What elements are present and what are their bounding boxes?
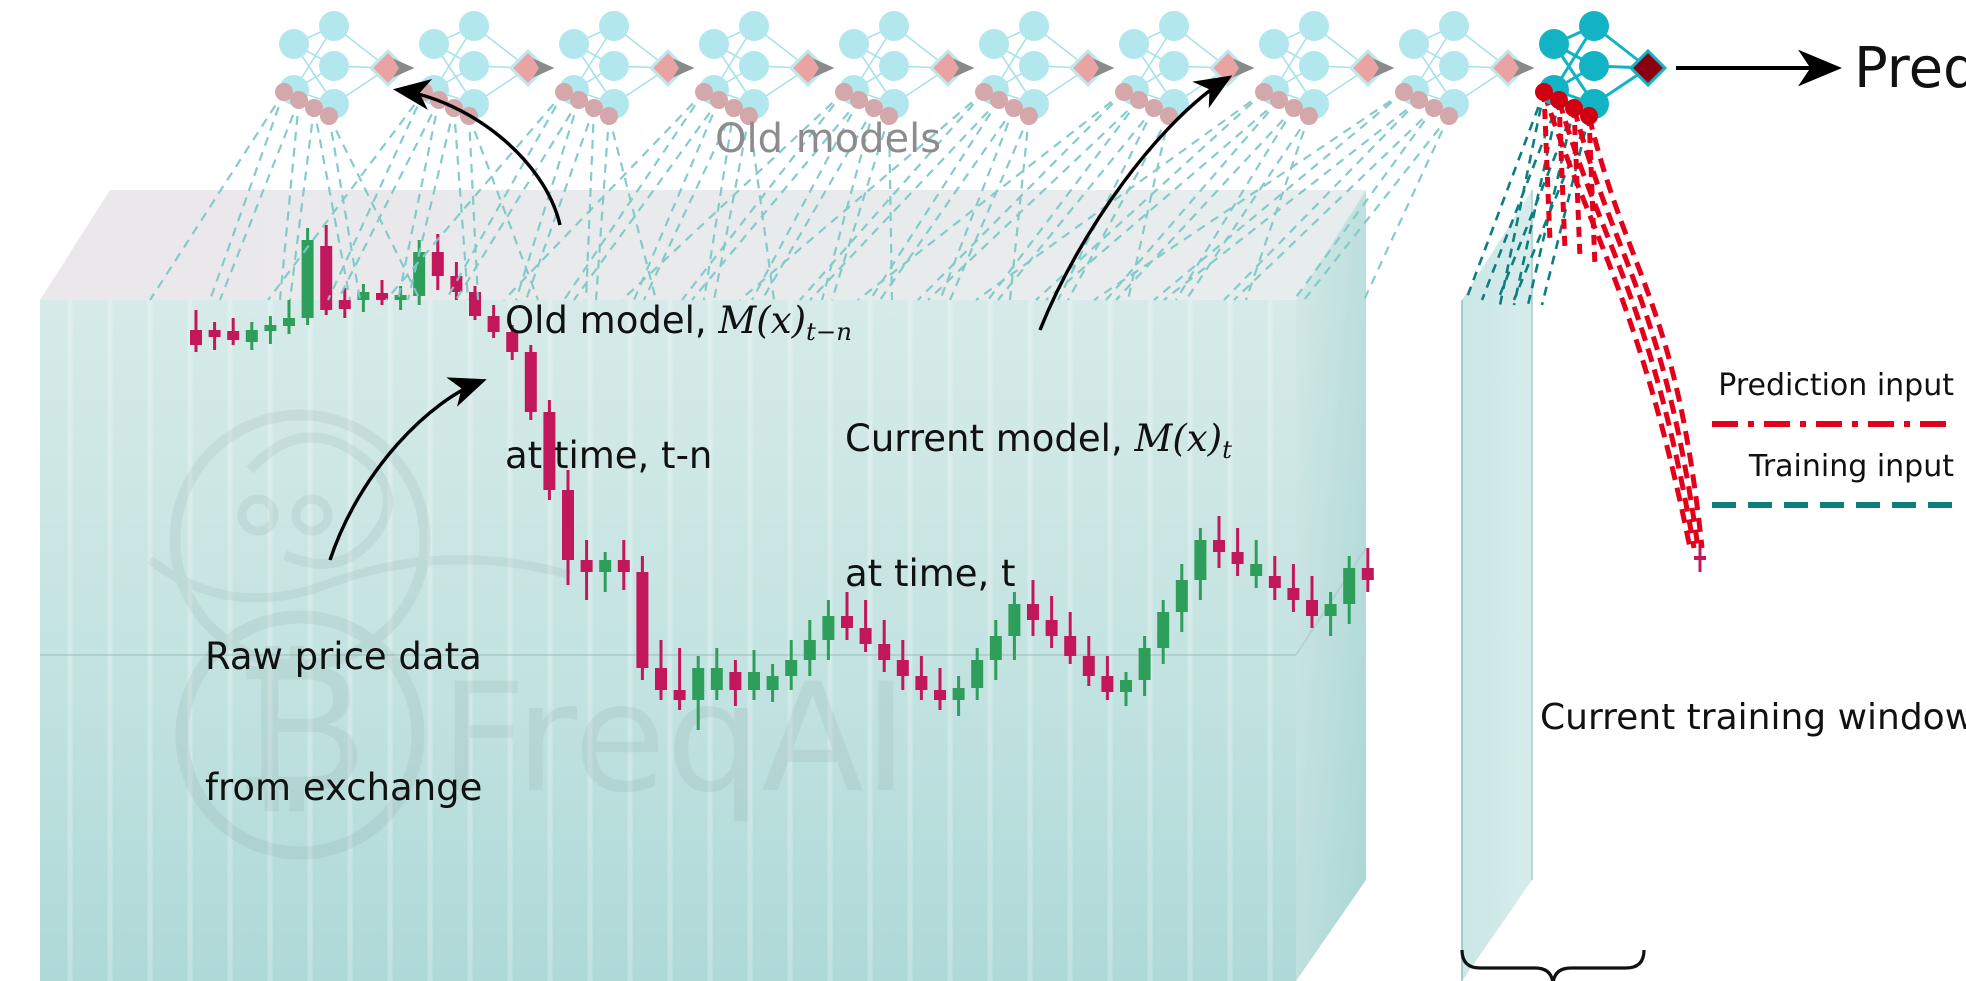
current-model-math-paren-open: ( [1172, 417, 1186, 460]
current-training-window-label: Current training window [1540, 697, 1966, 739]
diagram-canvas: ₿ FreqAI [0, 0, 1966, 981]
old-model-annotation: Old model, M(x)t−n at time, t-n [505, 212, 852, 565]
old-model-math-x: x [771, 299, 792, 342]
old-model-math-m: M [718, 299, 756, 342]
current-model-math-m: M [1134, 417, 1172, 460]
old-model-annotation-line2: at time, t-n [505, 434, 852, 478]
prediction-label: Prediction [1854, 36, 1966, 102]
legend-label-prediction-input: Prediction input [1674, 368, 1954, 403]
raw-price-annotation-line2: from exchange [205, 766, 482, 810]
current-model-math-subscript: t [1222, 435, 1232, 464]
current-model-annotation: Current model, M(x)t at time, t [845, 330, 1232, 683]
current-model-annotation-text: Current model, [845, 417, 1134, 460]
raw-price-annotation-line1: Raw price data [205, 635, 482, 679]
old-model-math-paren-close: ) [792, 299, 806, 342]
legend-label-training-input: Training input [1674, 449, 1954, 484]
old-model-annotation-text: Old model, [505, 299, 718, 342]
old-model-math-paren-open: ( [756, 299, 770, 342]
current-model-math-x: x [1187, 417, 1208, 460]
old-models-label: Old models [715, 116, 941, 163]
current-model-annotation-line2: at time, t [845, 552, 1232, 596]
current-model-math-paren-close: ) [1208, 417, 1222, 460]
raw-price-annotation: Raw price data from exchange [205, 548, 482, 897]
